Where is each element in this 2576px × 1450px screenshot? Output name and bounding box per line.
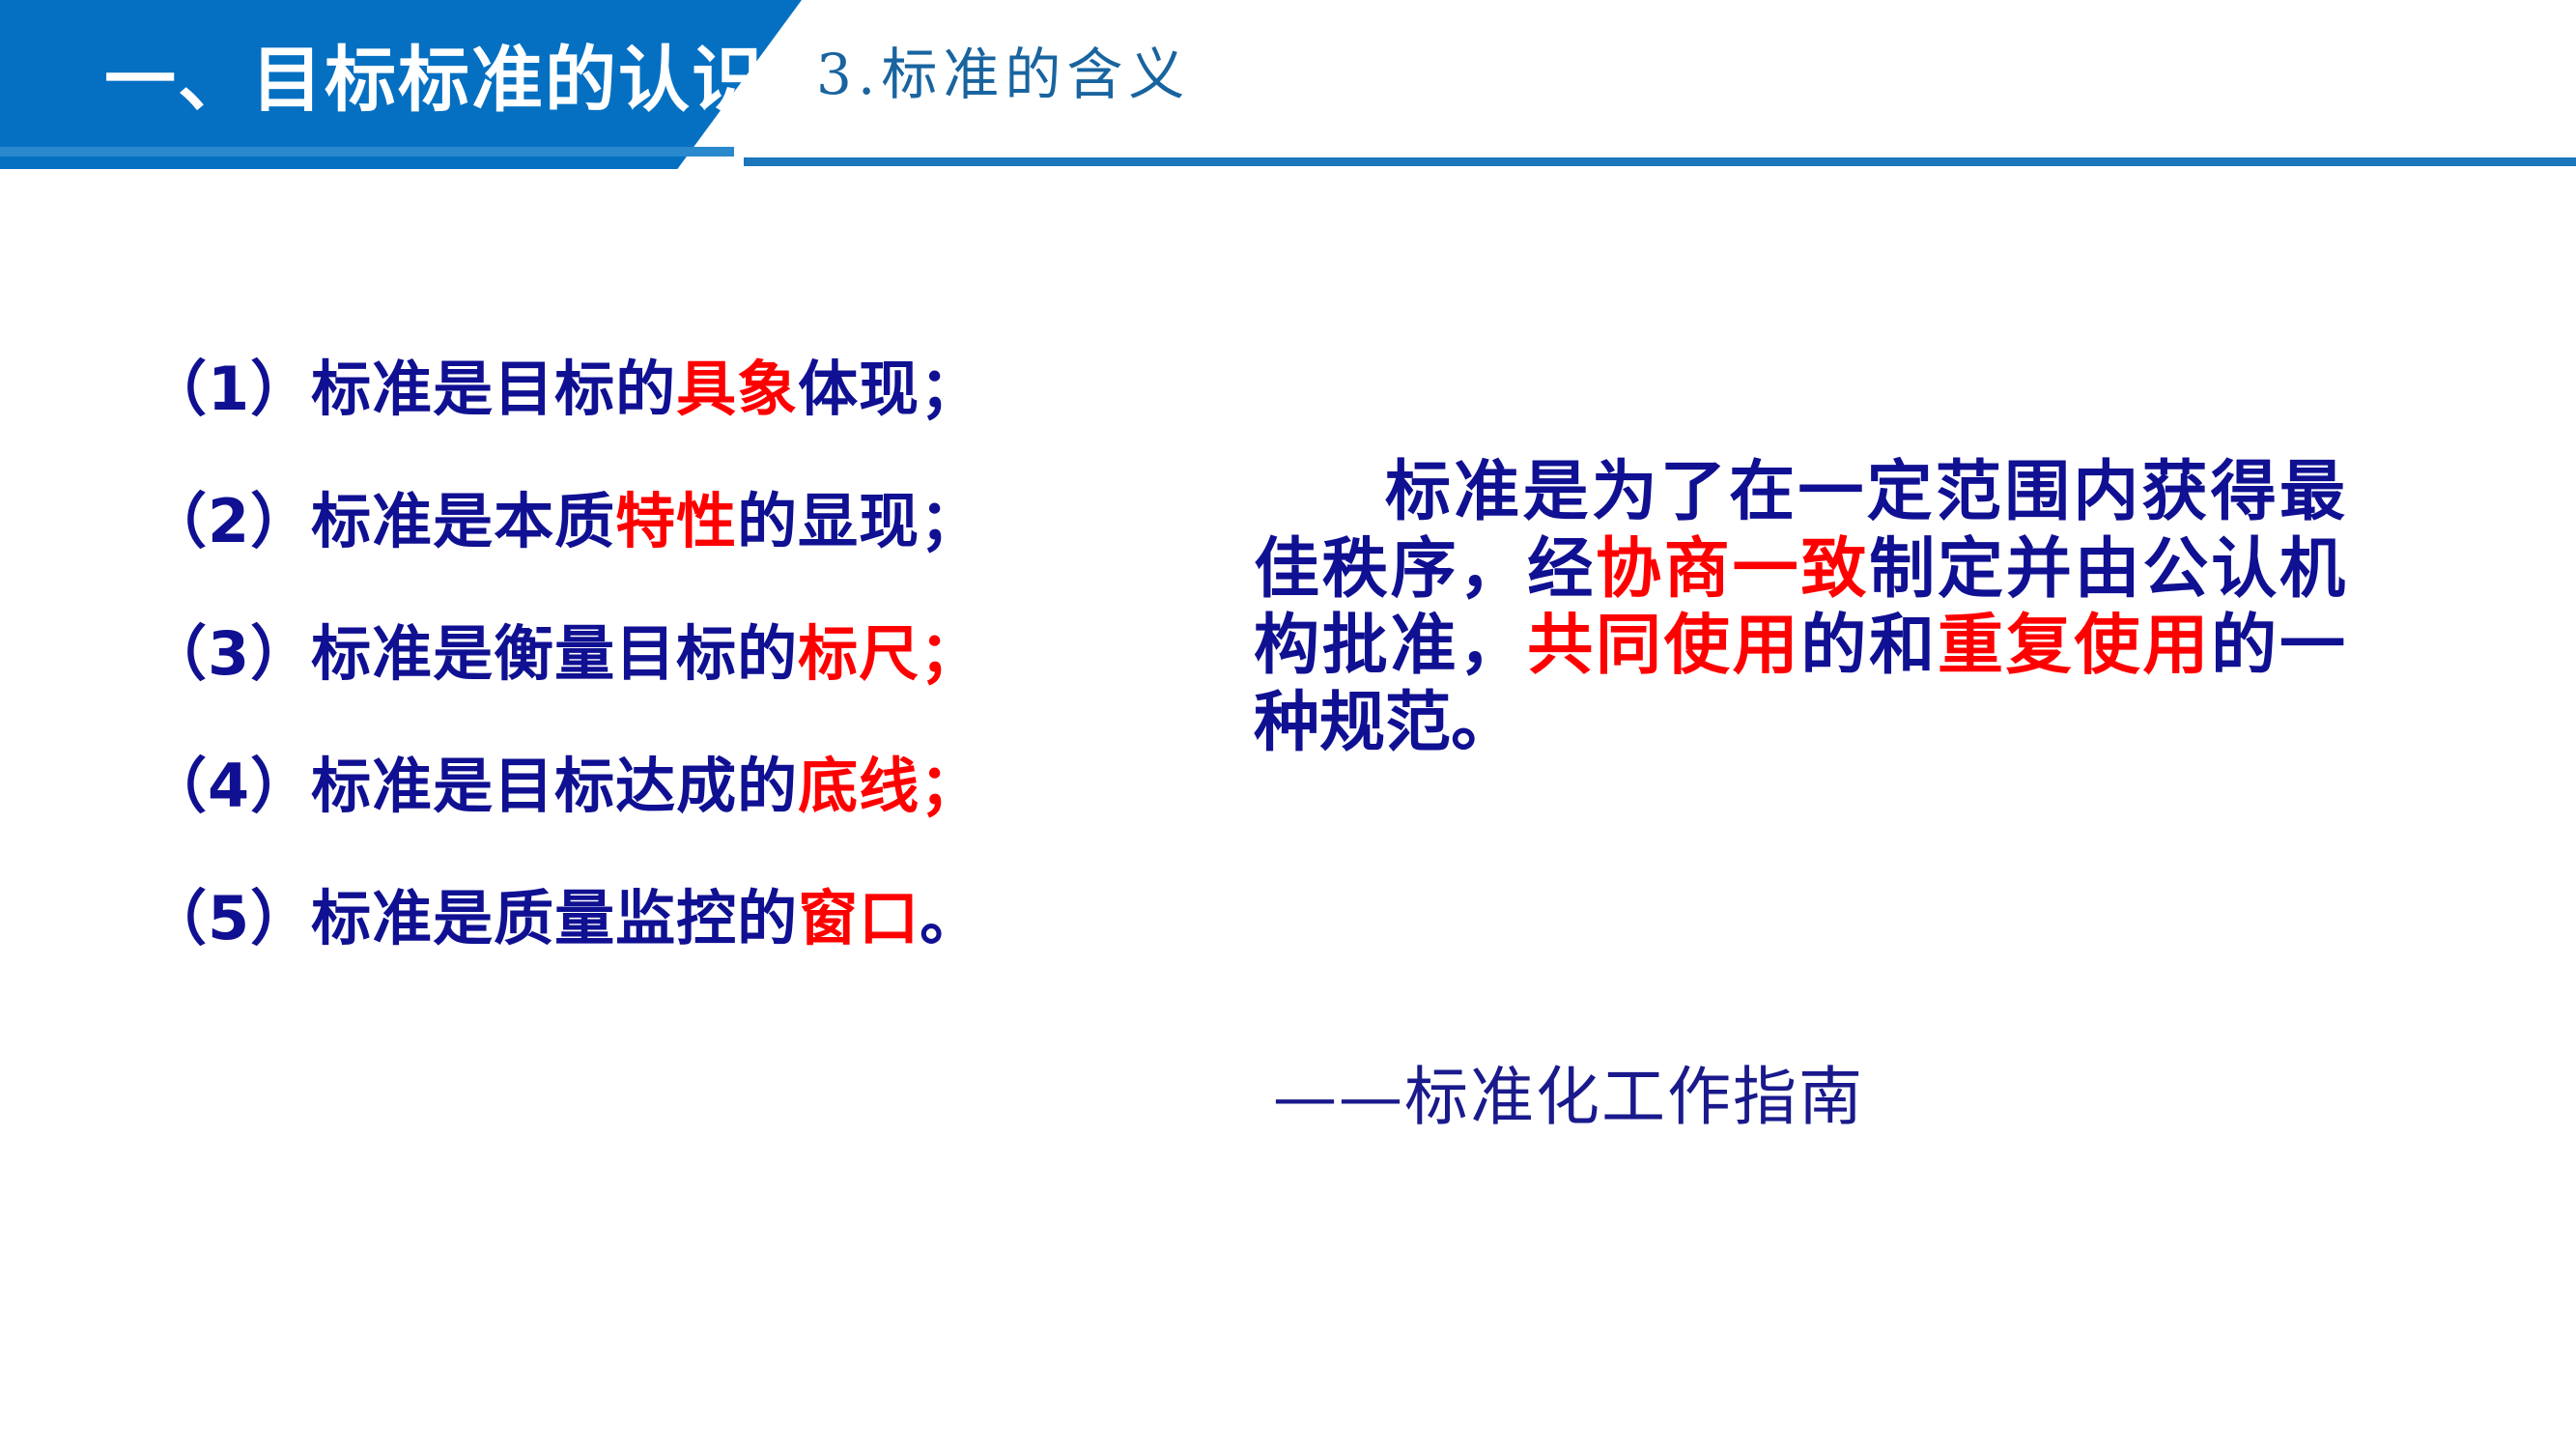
bullet-text-segment: 标准是目标的 [311, 354, 676, 424]
header-section-title: 一、目标标准的认识 [104, 44, 765, 116]
bullet-item: （3）标准是衡量目标的标尺； [147, 624, 1209, 684]
standard-definition-text: 标准是为了在一定范围内获得最佳秩序，经协商一致制定并由公认机构批准，共同使用的和… [1254, 454, 2345, 761]
bullet-index-label: （4） [147, 751, 311, 821]
bullet-text-segment: 标准是目标达成的 [311, 751, 798, 821]
bullet-index-label: （2） [147, 486, 311, 556]
bullet-index-label: （5） [147, 883, 311, 953]
definition-source-attribution: ——标准化工作指南 [1273, 1066, 1864, 1129]
bullet-item: （2）标准是本质特性的显现； [147, 492, 1209, 552]
bullet-text-segment: 标准是质量监控的 [311, 883, 798, 953]
highlighted-term: 重复使用 [1938, 608, 2211, 684]
bullet-item: （1）标准是目标的具象体现； [147, 359, 1209, 419]
bullet-text-segment: 标准是本质 [311, 486, 615, 556]
highlighted-term: 共同使用 [1527, 608, 1800, 684]
highlighted-term: 窗口 [798, 883, 920, 953]
highlighted-term: 底线； [798, 751, 980, 821]
left-bullet-column: （1）标准是目标的具象体现； （2）标准是本质特性的显现； （3）标准是衡量目标… [147, 359, 1209, 949]
right-definition-column: 标准是为了在一定范围内获得最佳秩序，经协商一致制定并由公认机构批准，共同使用的和… [1254, 454, 2345, 761]
highlighted-term: 具象 [676, 354, 798, 424]
bullet-text-segment: 体现； [798, 354, 980, 424]
bullet-text-segment: 的显现； [737, 486, 980, 556]
header-subtitle: 3.标准的含义 [816, 46, 1190, 102]
slide-canvas: 一、目标标准的认识 3.标准的含义 （1）标准是目标的具象体现； （2）标准是本… [0, 0, 2576, 1450]
bullet-text-segment: 。 [920, 883, 980, 953]
highlighted-term: 标尺； [798, 618, 980, 689]
bullet-item: （5）标准是质量监控的窗口。 [147, 889, 1209, 949]
header-band-accent-line [0, 147, 734, 156]
highlighted-term: 特性 [615, 486, 737, 556]
bullet-item: （4）标准是目标达成的底线； [147, 756, 1209, 816]
header-horizontal-rule [744, 157, 2576, 166]
bullet-index-label: （3） [147, 618, 311, 689]
definition-text-segment: 的和 [1800, 608, 1938, 684]
slide-header: 一、目标标准的认识 3.标准的含义 [0, 0, 2576, 184]
highlighted-term: 协商一致 [1596, 531, 1869, 608]
bullet-index-label: （1） [147, 354, 311, 424]
bullet-text-segment: 标准是衡量目标的 [311, 618, 798, 689]
